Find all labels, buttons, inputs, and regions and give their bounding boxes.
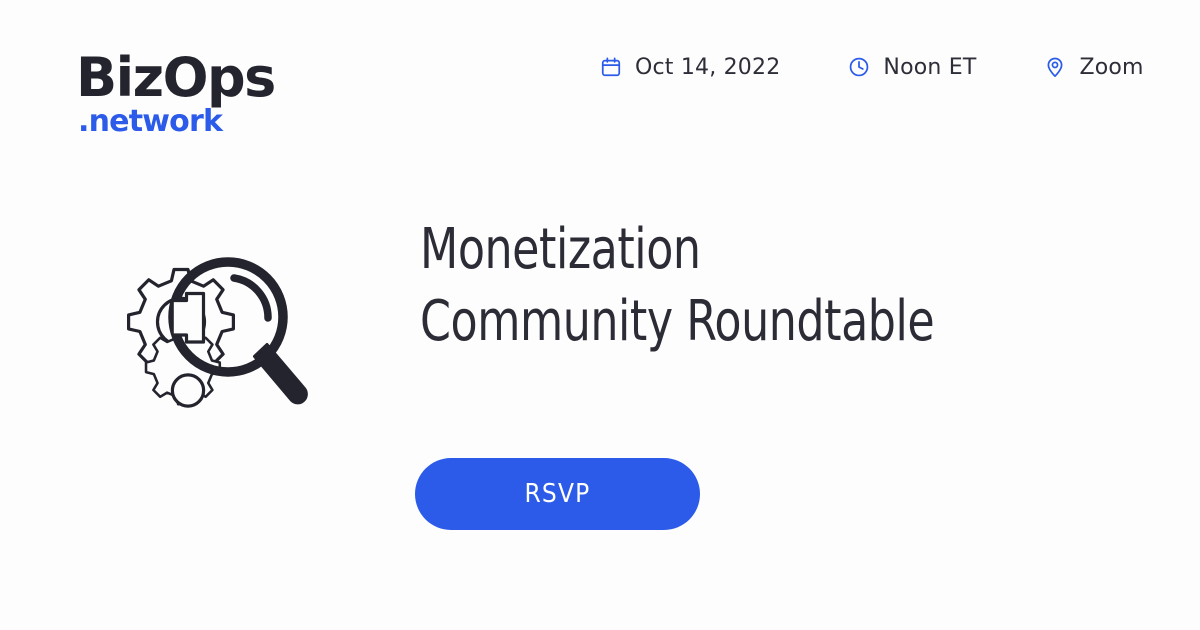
logo-tld: .network [78,107,336,137]
gears-and-magnifier-illustration [108,246,348,446]
clock-icon [848,56,870,78]
event-date-label: Oct 14, 2022 [635,55,780,80]
rsvp-button[interactable]: RSVP [415,458,700,530]
location-pin-icon [1044,56,1066,78]
logo-wordmark: BizOps [76,52,336,105]
gear-lens-overlap-notch [174,294,204,343]
event-location: Zoom [1044,50,1143,84]
page-title-line-1: Monetization [420,214,983,286]
event-announcement-card: BizOps .network Oct 14, 2022 [0,0,1200,630]
event-meta-row: Oct 14, 2022 Noon ET Zoom [600,50,1144,84]
event-time-label: Noon ET [883,55,976,80]
calendar-icon [600,56,622,78]
event-date: Oct 14, 2022 [600,50,780,84]
brand-logo[interactable]: BizOps .network [76,52,336,152]
magnifier-shine-icon [234,278,268,318]
magnifier-handle-icon [255,345,307,403]
page-title-line-2: Community Roundtable [420,286,983,358]
event-time: Noon ET [848,50,976,84]
event-location-label: Zoom [1079,55,1143,80]
page-title: Monetization Community Roundtable [420,214,1060,357]
